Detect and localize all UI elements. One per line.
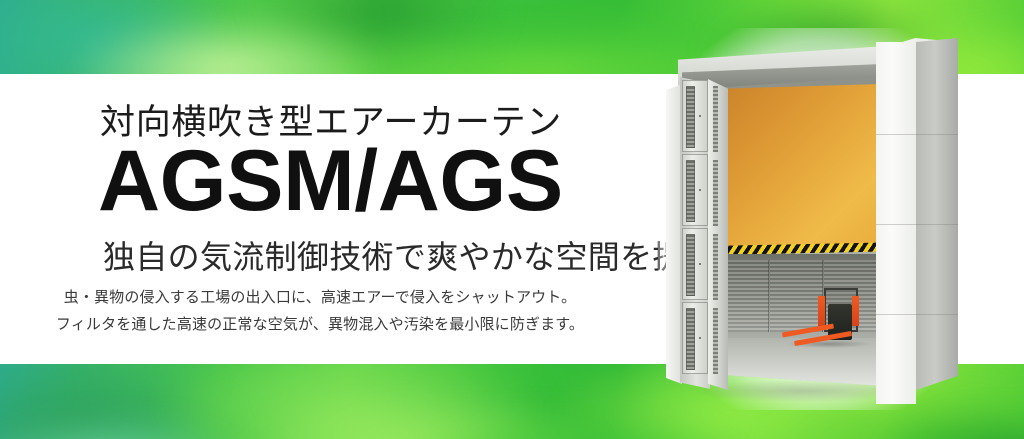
product-illustration (648, 28, 988, 410)
forklift-lift-column (852, 296, 859, 326)
unit-fastener-icon (699, 263, 701, 265)
product-scene (648, 28, 988, 410)
air-outlet-louver-icon (686, 308, 695, 370)
lead-line-2: フィルタを通した高速の正常な空気が、異物混入や汚染を最小限に防ぎます。 (0, 313, 640, 336)
air-outlet-louver-icon (686, 160, 695, 222)
air-outlet-louver-icon (686, 86, 695, 148)
lead-line-1: 虫・異物の侵入する工場の出入口に、高速エアーで侵入をシャットアウト。 (0, 286, 640, 309)
air-curtain-jamb (666, 74, 728, 392)
pillar-panel-seam (876, 134, 958, 135)
hero-banner: 対向横吹き型エアーカーテン AGSM/AGS 独自の気流制御技術で爽やかな空間を… (0, 0, 1024, 439)
forklift-lift-column (818, 296, 825, 326)
unit-fastener-icon (699, 337, 701, 339)
right-pillar (876, 38, 958, 404)
air-curtain-unit (682, 302, 708, 374)
pillar-front-face (876, 42, 916, 404)
pillar-side-face (916, 38, 958, 390)
jamb-inner-face (708, 76, 728, 390)
subtitle-text: 独自の気流制御技術で爽やかな空間を提供 (103, 232, 717, 278)
unit-fastener-icon (699, 189, 701, 191)
air-curtain-unit (682, 154, 708, 226)
jamb-outer-face (666, 84, 682, 384)
jamb-air-slot (713, 308, 718, 374)
hero-copy: 対向横吹き型エアーカーテン AGSM/AGS 独自の気流制御技術で爽やかな空間を… (0, 74, 640, 364)
unit-fastener-icon (699, 115, 701, 117)
jamb-air-slot (713, 234, 718, 300)
air-curtain-unit (682, 80, 708, 152)
jamb-air-slot (713, 160, 718, 226)
pillar-panel-seam (876, 314, 958, 315)
pillar-panel-seam (876, 224, 958, 225)
forklift (806, 288, 878, 350)
shutter-door (712, 84, 882, 252)
air-outlet-louver-icon (686, 234, 695, 296)
air-curtain-unit (682, 228, 708, 300)
doorway-opening (706, 76, 884, 386)
lead-paragraph: 虫・異物の侵入する工場の出入口に、高速エアーで侵入をシャットアウト。 フィルタを… (0, 286, 640, 340)
jamb-air-slot (713, 86, 718, 152)
page-title: AGSM/AGS (98, 138, 563, 224)
